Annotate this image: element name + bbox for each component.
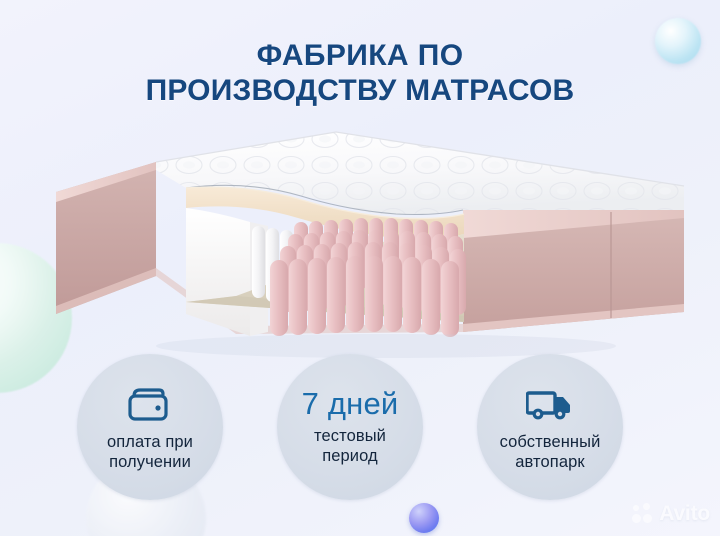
title-line-2: ПРОИЗВОДСТВУ МАТРАСОВ (0, 73, 720, 108)
title-line-1: ФАБРИКА ПО (257, 39, 464, 72)
badge-label: тестовый период (314, 426, 386, 467)
badge-test-period[interactable]: 7 дней тестовый период (277, 354, 423, 500)
avito-logo-icon (632, 503, 654, 525)
promo-banner: ФАБРИКА ПО ПРОИЗВОДСТВУ МАТРАСОВ (0, 0, 720, 536)
badge-line-1: собственный (500, 433, 601, 451)
badge-payment-on-delivery[interactable]: оплата при получении (77, 354, 223, 500)
badge-line-2: автопарк (515, 453, 584, 471)
badge-line-2: период (322, 447, 378, 465)
badge-line-1: тестовый (314, 427, 386, 445)
feature-badges: оплата при получении 7 дней тестовый пер… (0, 352, 720, 512)
badge-label: собственный автопарк (500, 432, 601, 473)
badge-label: оплата при получении (107, 432, 193, 473)
badge-own-fleet[interactable]: собственный автопарк (477, 354, 623, 500)
badge-line-1: оплата при (107, 433, 193, 451)
truck-icon (526, 382, 574, 426)
badge-line-2: получении (109, 453, 191, 471)
avito-watermark: Avito (632, 502, 710, 526)
badge-headline: 7 дней (302, 388, 399, 419)
page-title: ФАБРИКА ПО ПРОИЗВОДСТВУ МАТРАСОВ (0, 38, 720, 109)
avito-wordmark: Avito (659, 502, 710, 526)
wallet-icon (128, 382, 172, 426)
mattress-cutaway-illustration (36, 126, 696, 366)
